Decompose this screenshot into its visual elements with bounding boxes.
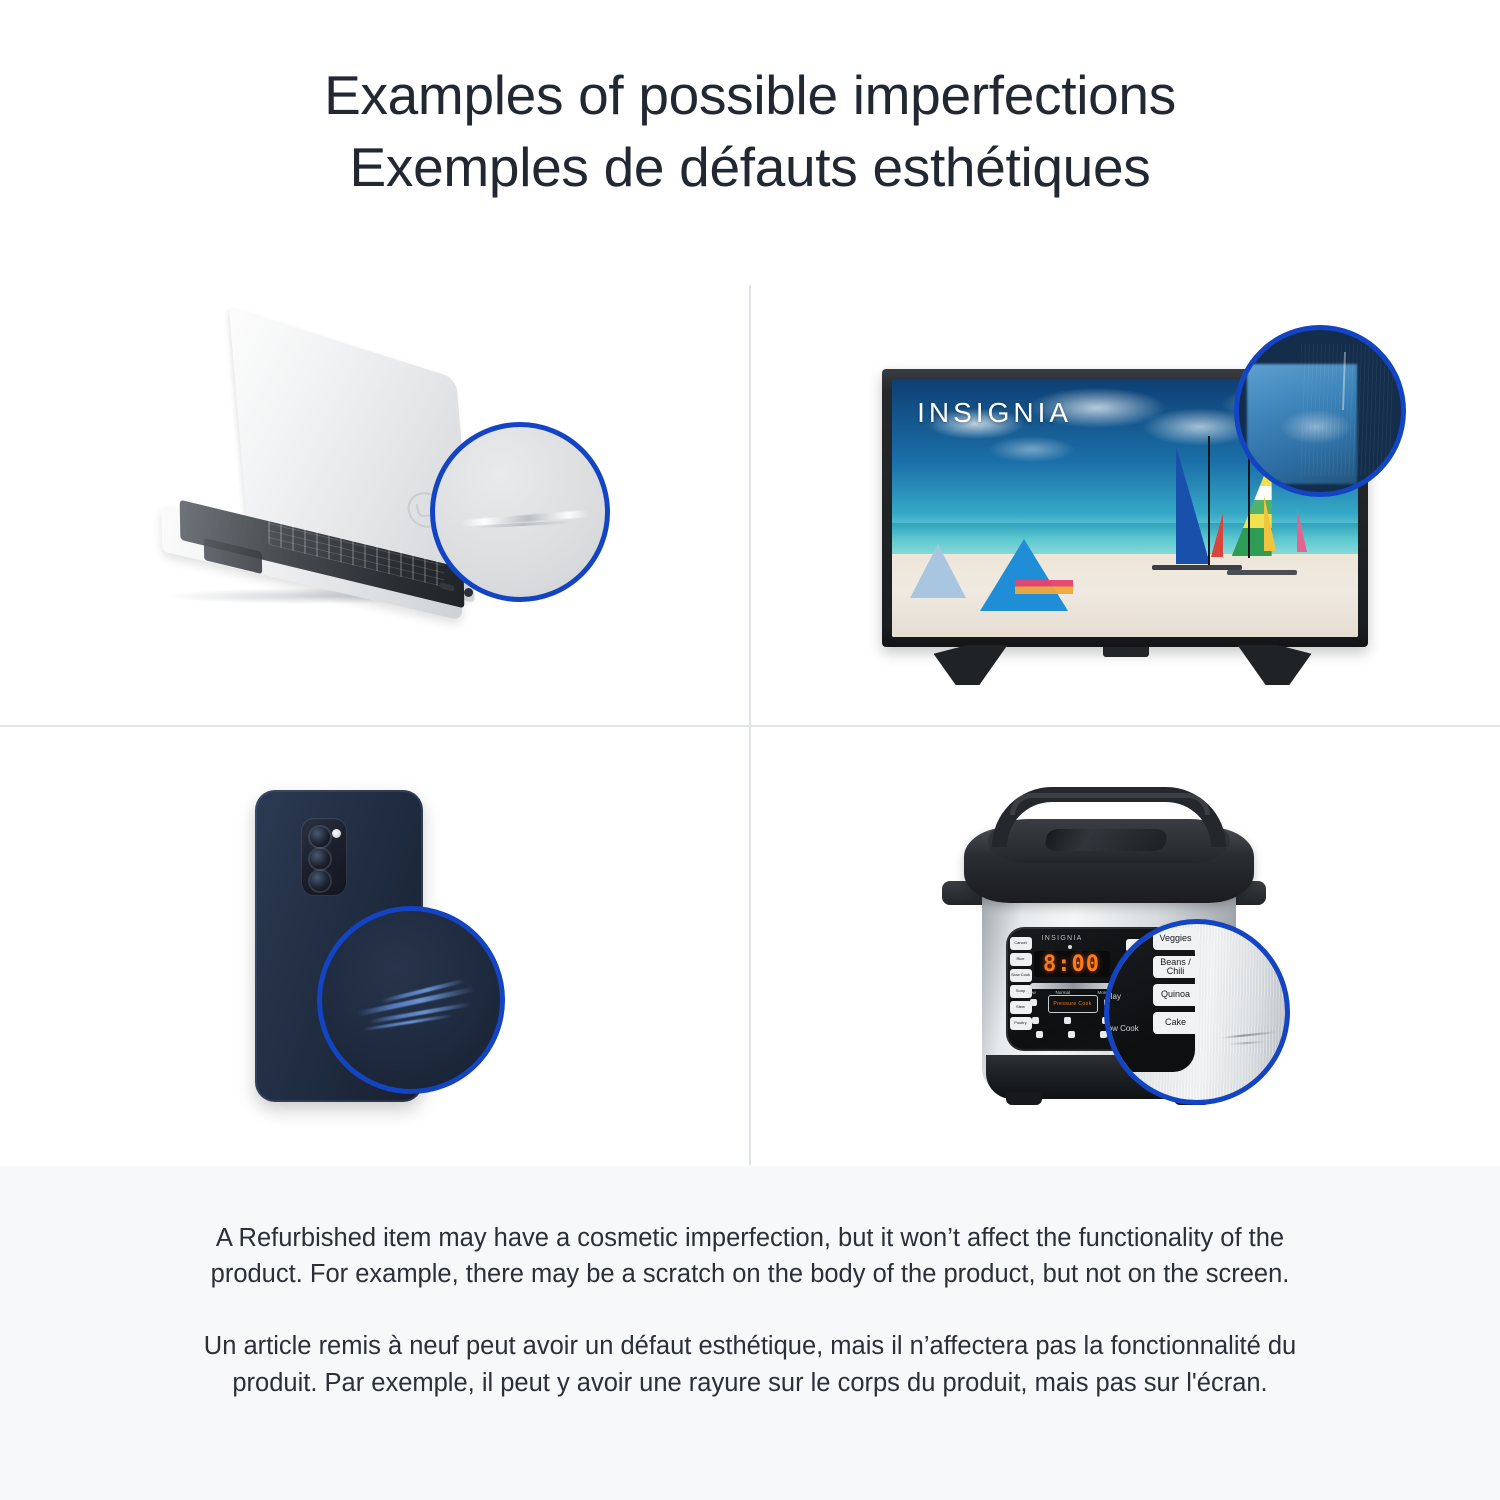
camera-flash-icon	[332, 829, 341, 838]
disclaimer-text-english: A Refurbished item may have a cosmetic i…	[180, 1220, 1320, 1292]
camera-lens-3-icon	[310, 871, 330, 891]
magnifier-circle-phone	[317, 906, 505, 1094]
magnifier-circle-cooker: Delay Slow Cook Veggies Beans / Chili Qu…	[1104, 919, 1290, 1105]
quadrant-tv: INSIGNIA	[751, 285, 1500, 725]
magnifier-circle-tv	[1234, 325, 1406, 497]
sailboat-red	[1211, 513, 1223, 557]
cooker-button-slow-cook[interactable]: Slow Cook	[1010, 969, 1032, 982]
tv-foot-right	[1238, 645, 1312, 685]
quadrant-phone	[0, 726, 749, 1166]
tv-neck	[1103, 647, 1149, 657]
cooker-button-manual[interactable]	[1032, 1017, 1039, 1024]
quadrant-pressure-cooker: INSIGNIA 8:00 Cancel Rice Slow Cook Soup…	[751, 726, 1500, 1166]
phone-illustration	[225, 776, 525, 1116]
cooker-pressure-scale	[1030, 983, 1116, 989]
sailboat-blue	[1176, 446, 1210, 564]
refurbished-imperfections-infographic: Examples of possible imperfections Exemp…	[0, 0, 1500, 1500]
cooker-zoom-button-quinoa: Quinoa	[1153, 984, 1199, 1006]
cooker-status-indicator	[1068, 945, 1072, 949]
camera-module-icon	[301, 818, 347, 896]
camera-lens-1-icon	[310, 827, 330, 847]
cooker-brand-label: INSIGNIA	[1042, 935, 1083, 942]
laptop-illustration	[140, 340, 610, 670]
cooker-button-minus[interactable]	[1030, 999, 1037, 1006]
scratch-mark-secondary	[1228, 1041, 1264, 1045]
cooker-zoom-button-veggies: Veggies	[1153, 928, 1199, 950]
sailboat-pink	[1297, 508, 1307, 552]
sailboat-yellow	[1264, 495, 1276, 551]
cooker-zoom-button-beans-chili: Beans / Chili	[1153, 956, 1199, 978]
camera-lens-2-icon	[310, 849, 330, 869]
cooker-pressure-cook-knob[interactable]: Pressure Cook	[1048, 995, 1098, 1013]
cooker-lcd-display: 8:00	[1034, 951, 1110, 977]
disclaimer-text-french: Un article remis à neuf peut avoir un dé…	[180, 1328, 1320, 1400]
quadrant-laptop	[0, 285, 749, 725]
magnifier-circle-laptop	[430, 422, 610, 602]
cooker-button-slow-cook-2[interactable]	[1068, 1031, 1075, 1038]
tv-corner-bezel-zoom	[1301, 344, 1393, 476]
cooker-button-steam[interactable]	[1036, 1031, 1043, 1038]
scratch-mark	[1221, 1031, 1277, 1039]
catamaran-hull-2	[1227, 570, 1297, 575]
cooker-button-cancel[interactable]: Cancel	[1010, 937, 1032, 950]
footer-disclaimer: A Refurbished item may have a cosmetic i…	[0, 1166, 1500, 1500]
tv-illustration: INSIGNIA	[866, 325, 1386, 685]
page-title-french: Exemples de défauts esthétiques	[350, 134, 1151, 200]
cooker-zoom-label-slow-cook: Slow Cook	[1104, 1024, 1139, 1033]
cooker-button-keep-warm[interactable]	[1064, 1017, 1071, 1024]
cooker-button-rice[interactable]: Rice	[1010, 953, 1032, 966]
cooker-zoom-button-cake: Cake	[1153, 1012, 1199, 1034]
cooker-scale-label-low: Low	[1028, 990, 1036, 995]
cooker-zoom-label-delay: Delay	[1104, 992, 1121, 1001]
tv-screen-brand-text: INSIGNIA	[917, 397, 1072, 429]
cooker-handle-highlight	[1010, 793, 1210, 815]
beach-tent-light	[910, 544, 966, 598]
laptop-headphone-jack	[464, 588, 473, 597]
beach-tent-stripe	[1015, 580, 1073, 594]
beach-tent-blue	[980, 539, 1068, 611]
cooker-foot-left	[1006, 1093, 1042, 1105]
tv-foot-left	[934, 645, 1008, 685]
header: Examples of possible imperfections Exemp…	[0, 0, 1500, 285]
page-title-english: Examples of possible imperfections	[324, 62, 1176, 128]
pressure-cooker-illustration: INSIGNIA 8:00 Cancel Rice Slow Cook Soup…	[936, 771, 1316, 1121]
product-examples-grid: INSIGNIA	[0, 285, 1500, 1165]
